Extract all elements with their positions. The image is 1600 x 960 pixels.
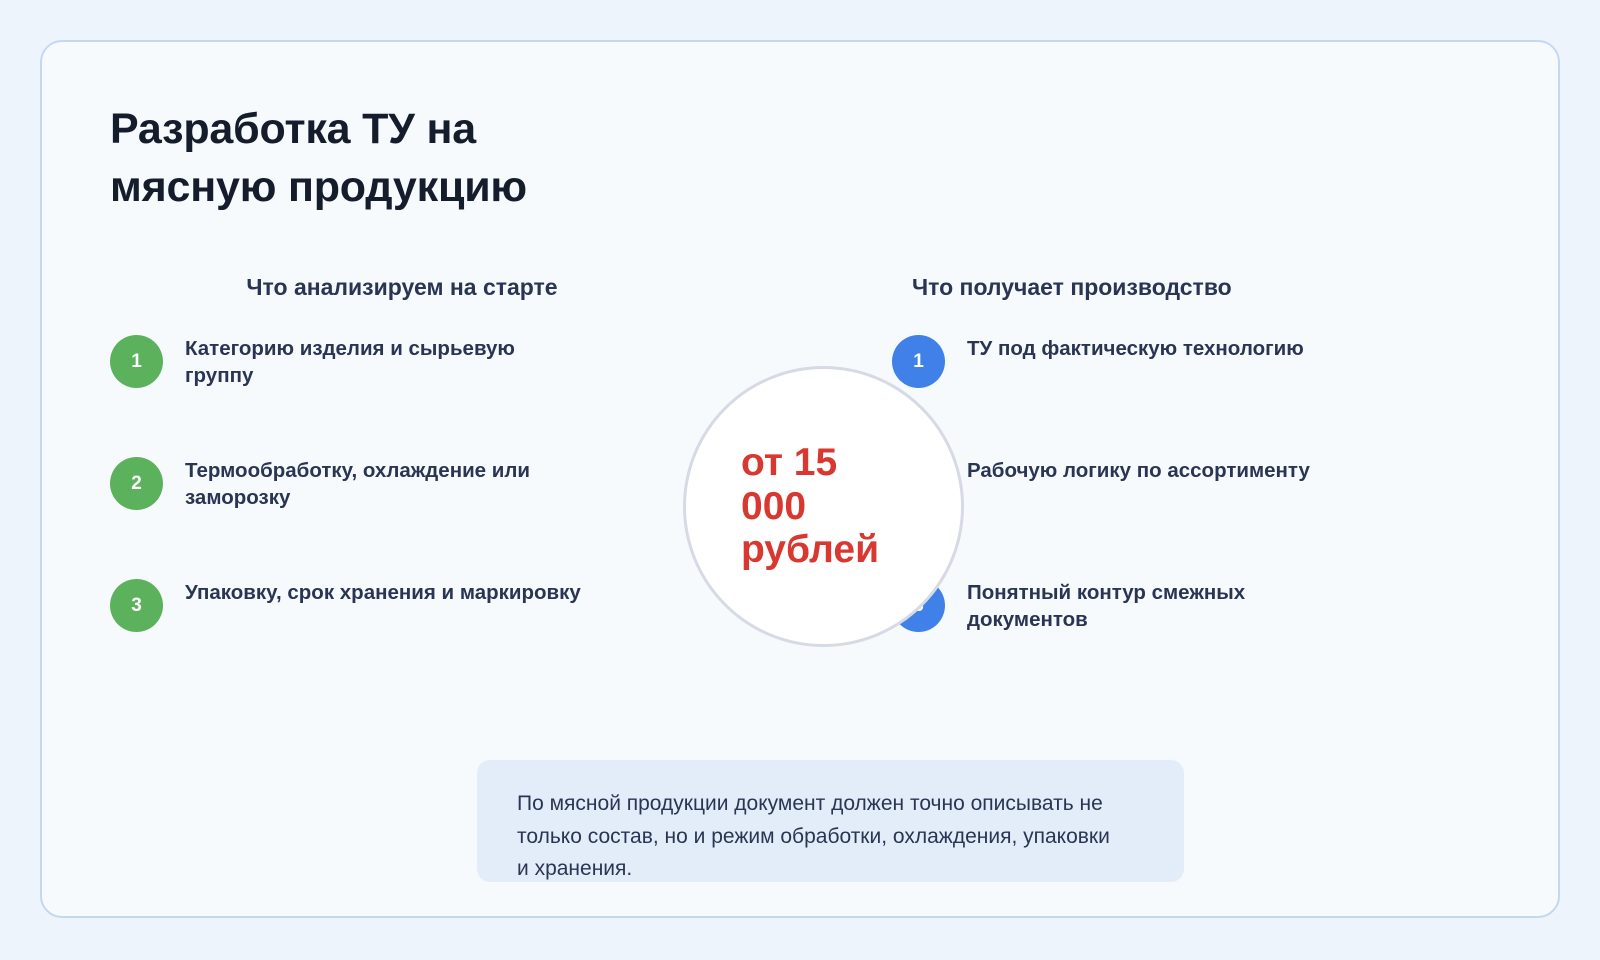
- note-text: По мясной продукции документ должен точн…: [517, 788, 1117, 886]
- step-badge: 3: [110, 579, 163, 632]
- content-card: Разработка ТУ на мясную продукцию Что ан…: [40, 40, 1560, 918]
- page-title-line-2: мясную продукцию: [110, 158, 810, 216]
- column-output: Что получает производство 1 ТУ под факти…: [892, 274, 1452, 697]
- list-item-label: Термообработку, охлаждение или заморозку: [185, 453, 585, 511]
- list-item-label: Рабочую логику по ассортименту: [967, 453, 1310, 484]
- list-item: 2 Термообработку, охлаждение или замороз…: [110, 453, 730, 575]
- step-badge: 2: [110, 457, 163, 510]
- list-item: 3 Упаковку, срок хранения и маркировку: [110, 575, 730, 697]
- list-item: 3 Понятный контур смежных документов: [892, 575, 1452, 697]
- price-circle: от 15 000 рублей: [683, 366, 964, 647]
- list-item-label: Понятный контур смежных документов: [967, 575, 1327, 633]
- list-item: 1 Категорию изделия и сырьевую группу: [110, 331, 730, 453]
- list-item-label: ТУ под фактическую технологию: [967, 331, 1304, 362]
- page-root: Разработка ТУ на мясную продукцию Что ан…: [0, 0, 1600, 960]
- page-title-line-1: Разработка ТУ на: [110, 100, 810, 158]
- column-analysis: Что анализируем на старте 1 Категорию из…: [110, 274, 730, 697]
- step-badge: 1: [892, 335, 945, 388]
- list-item: 1 ТУ под фактическую технологию: [892, 331, 1452, 453]
- column-analysis-heading: Что анализируем на старте: [110, 274, 730, 301]
- column-output-heading: Что получает производство: [892, 274, 1452, 301]
- list-item: 2 Рабочую логику по ассортименту: [892, 453, 1452, 575]
- note-box: По мясной продукции документ должен точн…: [477, 760, 1184, 882]
- list-item-label: Категорию изделия и сырьевую группу: [185, 331, 585, 389]
- step-badge: 1: [110, 335, 163, 388]
- list-item-label: Упаковку, срок хранения и маркировку: [185, 575, 581, 606]
- page-title: Разработка ТУ на мясную продукцию: [110, 100, 810, 216]
- price-label: от 15 000 рублей: [741, 441, 906, 572]
